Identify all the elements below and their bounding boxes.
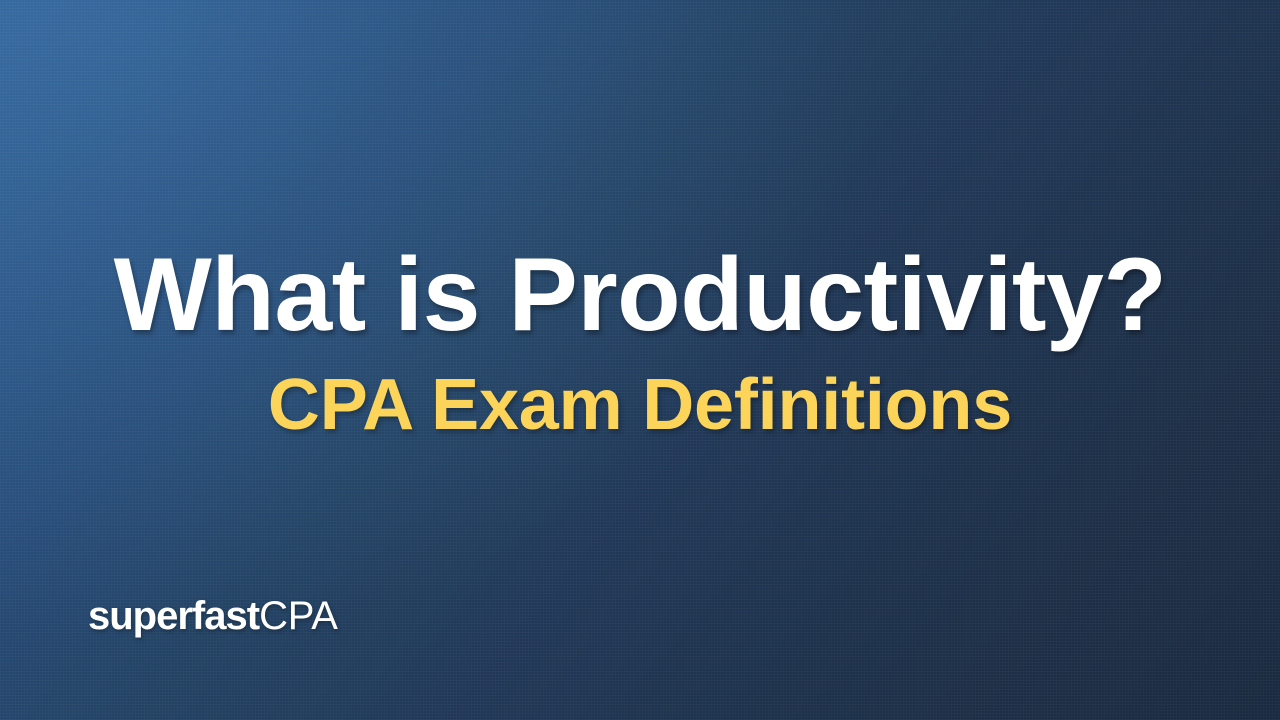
brand-logo-bold-text: superfast <box>88 594 259 638</box>
headline-block: What is Productivity? CPA Exam Definitio… <box>0 243 1280 441</box>
page-subtitle: CPA Exam Definitions <box>0 369 1280 441</box>
brand-logo-light-text: CPA <box>259 594 338 638</box>
page-title: What is Productivity? <box>0 243 1280 347</box>
brand-logo: superfastCPA <box>88 596 338 636</box>
title-card-slide: What is Productivity? CPA Exam Definitio… <box>0 0 1280 720</box>
